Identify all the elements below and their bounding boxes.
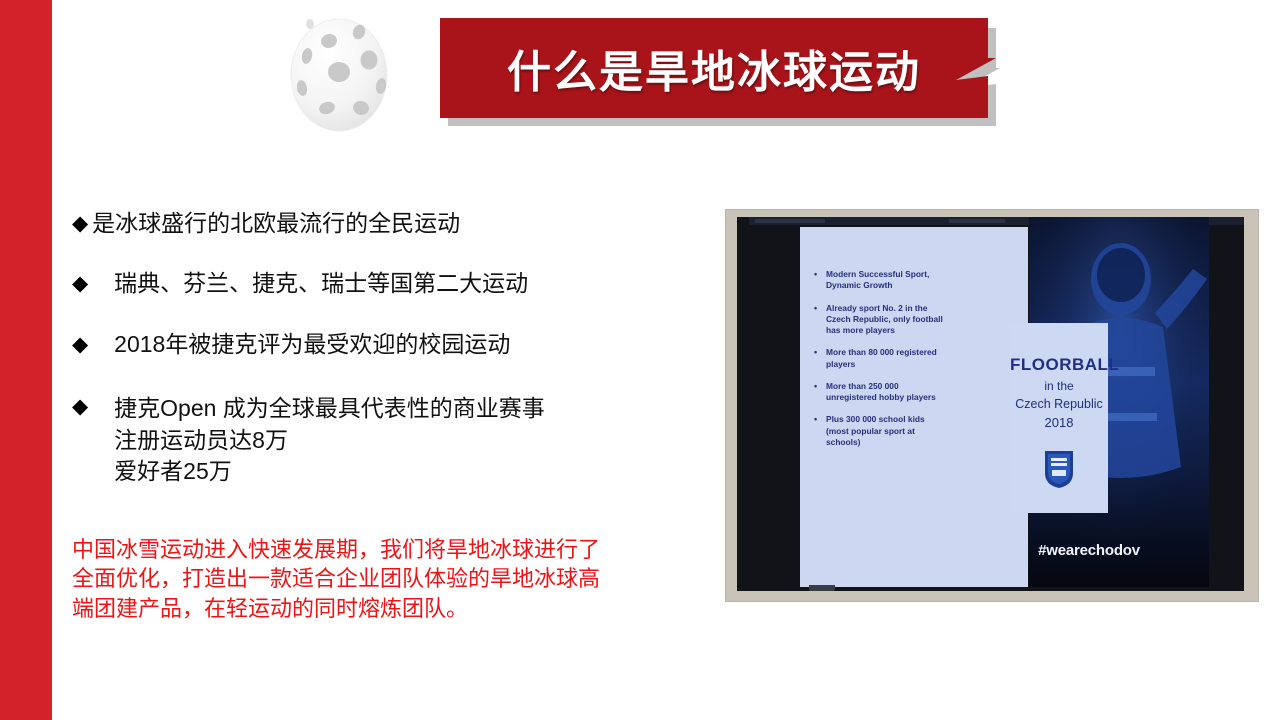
slide-root: 什么是旱地冰球运动 ◆ 是冰球盛行的北欧最流行的全民运动 ◆ 瑞典、芬兰、捷克、… [0, 0, 1280, 720]
floorball-title-panel: FLOORBALL in the Czech Republic 2018 [1010, 323, 1108, 513]
diamond-bullet-icon: ◆ [72, 393, 88, 420]
page-title: 什么是旱地冰球运动 [440, 18, 988, 118]
slide-list-item: • More than 80 000 registered players [814, 347, 1020, 370]
hashtag-label: #wearechodov [999, 542, 1179, 559]
list-item-label: 瑞典、芬兰、捷克、瑞士等国第二大运动 [114, 270, 528, 297]
dot-bullet-icon: • [814, 347, 826, 370]
bullet-list: ◆ 是冰球盛行的北欧最流行的全民运动 ◆ 瑞典、芬兰、捷克、瑞士等国第二大运动 … [72, 210, 712, 488]
dot-bullet-icon: • [814, 381, 826, 404]
list-item-label: 2018年被捷克评为最受欢迎的校园运动 [114, 331, 510, 358]
slide-list-item: • Modern Successful Sport, Dynamic Growt… [814, 269, 1020, 292]
list-item: ◆ 瑞典、芬兰、捷克、瑞士等国第二大运动 [72, 270, 712, 297]
diamond-bullet-icon: ◆ [72, 270, 88, 297]
left-red-accent-bar [0, 0, 52, 720]
floorball-presentation-photo: • Modern Successful Sport, Dynamic Growt… [726, 210, 1258, 601]
list-item: ◆ 2018年被捷克评为最受欢迎的校园运动 [72, 331, 712, 358]
list-item-label: 捷克Open 成为全球最具代表性的商业赛事 注册运动员达8万 爱好者25万 [114, 393, 545, 488]
floorball-ball-icon [277, 16, 401, 134]
slide-bullet-list: • Modern Successful Sport, Dynamic Growt… [814, 269, 1020, 459]
floorball-year: 2018 [1010, 415, 1108, 430]
slide-list-item-label: More than 80 000 registered players [826, 347, 937, 370]
monitor-screen: • Modern Successful Sport, Dynamic Growt… [737, 217, 1244, 591]
dot-bullet-icon: • [814, 303, 826, 337]
diamond-bullet-icon: ◆ [72, 331, 88, 358]
slide-list-item: • More than 250 000 unregistered hobby p… [814, 381, 1020, 404]
floorball-subheading: in the [1010, 379, 1108, 393]
diamond-bullet-icon: ◆ [72, 210, 88, 237]
slide-list-item: • Plus 300 000 school kids (most popular… [814, 414, 1020, 448]
list-item: ◆ 捷克Open 成为全球最具代表性的商业赛事 注册运动员达8万 爱好者25万 [72, 393, 712, 488]
list-item: ◆ 是冰球盛行的北欧最流行的全民运动 [72, 210, 712, 237]
list-item-label: 是冰球盛行的北欧最流行的全民运动 [92, 210, 460, 237]
monitor-stand [809, 585, 835, 591]
floorball-heading: FLOORBALL [1010, 355, 1108, 375]
floorball-country: Czech Republic [1010, 397, 1108, 411]
slide-list-item: • Already sport No. 2 in the Czech Repub… [814, 303, 1020, 337]
slide-list-item-label: Plus 300 000 school kids (most popular s… [826, 414, 925, 448]
floorball-club-crest-icon [1043, 449, 1075, 489]
dot-bullet-icon: • [814, 269, 826, 292]
slide-list-item-label: Modern Successful Sport, Dynamic Growth [826, 269, 929, 292]
slide-list-item-label: More than 250 000 unregistered hobby pla… [826, 381, 936, 404]
dot-bullet-icon: • [814, 414, 826, 448]
slide-list-item-label: Already sport No. 2 in the Czech Republi… [826, 303, 943, 337]
slide-text-panel: • Modern Successful Sport, Dynamic Growt… [800, 227, 1028, 587]
highlight-paragraph: 中国冰雪运动进入快速发展期，我们将旱地冰球进行了 全面优化，打造出一款适合企业团… [72, 535, 732, 623]
